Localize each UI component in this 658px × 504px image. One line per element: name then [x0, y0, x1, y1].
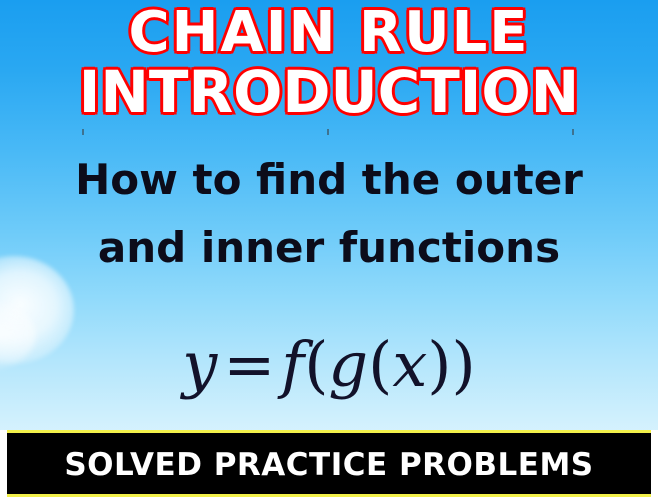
title-line-2: INTRODUCTION	[0, 60, 658, 124]
formula-inner-function: g	[328, 328, 368, 401]
formula-close-paren-outer: )	[452, 328, 476, 401]
formula-expression: y=f(g(x))	[0, 330, 658, 400]
banner-edge-right	[651, 430, 658, 497]
subtitle-block: How to find the outer and inner function…	[0, 146, 658, 282]
formula-lhs: y	[182, 328, 217, 401]
divider-tick-center	[327, 129, 329, 135]
bottom-white-margin	[0, 497, 658, 504]
title-block: CHAIN RULE INTRODUCTION	[0, 0, 658, 131]
formula-outer-function: f	[281, 328, 304, 401]
bottom-banner-text: SOLVED PRACTICE PROBLEMS	[7, 438, 651, 492]
divider-tick-right	[572, 129, 574, 135]
banner-edge-left	[0, 430, 7, 497]
thumbnail-canvas: CHAIN RULE INTRODUCTION How to find the …	[0, 0, 658, 504]
formula-close-paren-inner: )	[427, 328, 451, 401]
subtitle-line-1: How to find the outer	[0, 146, 658, 214]
formula-variable: x	[392, 328, 427, 401]
formula-open-paren-inner: (	[368, 328, 392, 401]
formula-equals: =	[217, 328, 281, 401]
formula-open-paren-outer: (	[304, 328, 328, 401]
subtitle-line-2: and inner functions	[0, 214, 658, 282]
divider-tick-left	[82, 129, 84, 135]
title-line-1: CHAIN RULE	[0, 2, 658, 64]
